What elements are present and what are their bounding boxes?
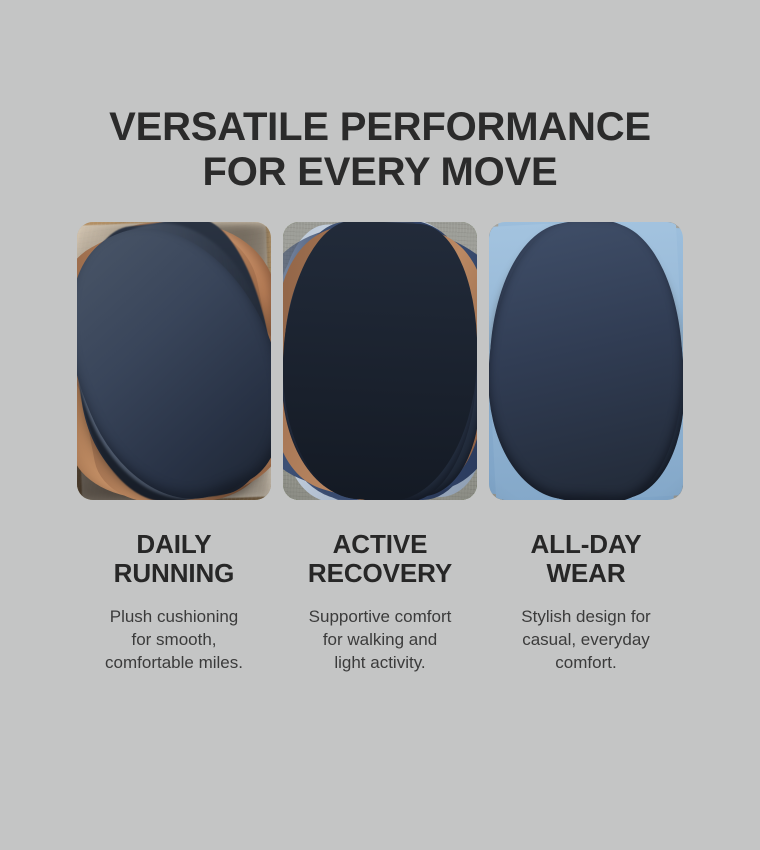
card-title-active-recovery: ACTIVE RECOVERY — [308, 530, 452, 587]
photo-daily-running — [77, 222, 271, 500]
card-description-active-recovery: Supportive comfort for walking and light… — [309, 606, 452, 675]
photo-all-day-wear — [489, 222, 683, 500]
card-desc-line-1: Plush cushioning — [105, 606, 243, 629]
card-desc-line-1: Supportive comfort — [309, 606, 452, 629]
card-title-daily-running: DAILY RUNNING — [114, 530, 235, 587]
photo-vignette — [489, 222, 683, 500]
card-desc-line-2: casual, everyday — [521, 629, 650, 652]
feature-card-row: DAILY RUNNING Plush cushioning for smoot… — [77, 222, 683, 675]
feature-card-daily-running[interactable]: DAILY RUNNING Plush cushioning for smoot… — [77, 222, 271, 675]
card-desc-line-3: comfortable miles. — [105, 652, 243, 675]
card-title-line-1: ACTIVE — [308, 530, 452, 559]
card-title-line-1: ALL-DAY — [530, 530, 641, 559]
photo-active-recovery — [283, 222, 477, 500]
card-desc-line-3: light activity. — [309, 652, 452, 675]
card-desc-line-2: for smooth, — [105, 629, 243, 652]
card-title-line-2: WEAR — [530, 559, 641, 588]
feature-card-active-recovery[interactable]: ACTIVE RECOVERY Supportive comfort for w… — [283, 222, 477, 675]
card-title-line-2: RUNNING — [114, 559, 235, 588]
photo-vignette — [77, 222, 271, 500]
headline-line-1: VERSATILE PERFORMANCE — [0, 105, 760, 151]
card-title-line-1: DAILY — [114, 530, 235, 559]
card-desc-line-3: comfort. — [521, 652, 650, 675]
card-description-all-day-wear: Stylish design for casual, everyday comf… — [521, 606, 650, 675]
card-title-all-day-wear: ALL-DAY WEAR — [530, 530, 641, 587]
card-desc-line-2: for walking and — [309, 629, 452, 652]
card-description-daily-running: Plush cushioning for smooth, comfortable… — [105, 606, 243, 675]
card-desc-line-1: Stylish design for — [521, 606, 650, 629]
headline-line-2: FOR EVERY MOVE — [0, 150, 760, 196]
feature-card-all-day-wear[interactable]: ALL-DAY WEAR Stylish design for casual, … — [489, 222, 683, 675]
photo-vignette — [283, 222, 477, 500]
card-title-line-2: RECOVERY — [308, 559, 452, 588]
page-title: VERSATILE PERFORMANCE FOR EVERY MOVE — [0, 105, 760, 196]
promo-page: VERSATILE PERFORMANCE FOR EVERY MOVE — [0, 0, 760, 850]
